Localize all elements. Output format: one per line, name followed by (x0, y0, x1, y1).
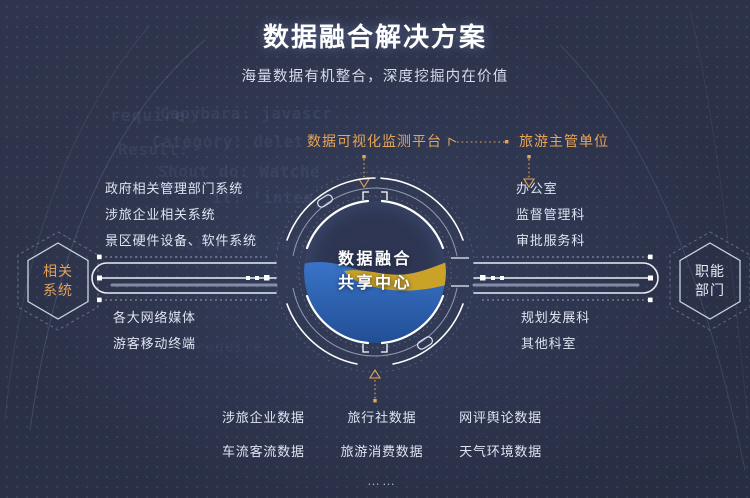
dropper-bottom-data (370, 370, 380, 402)
right-bus-connector (474, 255, 658, 303)
list-item[interactable]: 涉旅企业数据 (222, 405, 305, 431)
table-row: 涉旅企业数据 旅行社数据 网评舆论数据 (222, 405, 542, 431)
page-title: 数据融合解决方案 (0, 22, 750, 53)
list-item[interactable]: 旅游消费数据 (341, 439, 424, 465)
hexagon-related-systems[interactable]: 相关 系统 (12, 228, 104, 334)
list-item[interactable]: 天气环境数据 (459, 439, 542, 465)
hexagon-left-line2: 系统 (43, 281, 73, 300)
hexagon-left-label: 相关 系统 (12, 228, 104, 334)
list-item[interactable]: 其他科室 (521, 331, 590, 357)
hexagon-right-label: 职能 部门 (664, 228, 750, 334)
code-line: require (110, 106, 185, 126)
left-bus-connector (92, 255, 276, 303)
center-line2: 共享中心 (338, 272, 412, 296)
right-column-bottom: 规划发展科 其他科室 (521, 305, 590, 357)
list-item[interactable]: 各大网络媒体 (113, 305, 196, 331)
hexagon-right-line2: 部门 (695, 281, 725, 300)
center-hub: 数据融合 共享中心 (273, 170, 477, 374)
list-item[interactable]: 旅行社数据 (347, 405, 416, 431)
list-item[interactable]: 涉旅企业相关系统 (105, 202, 257, 228)
left-column-top: 政府相关管理部门系统 涉旅企业相关系统 景区硬件设备、软件系统 (105, 176, 257, 254)
list-item[interactable]: 车流客流数据 (222, 439, 305, 465)
list-item[interactable]: 审批服务科 (516, 228, 585, 254)
right-column-top: 办公室 监督管理科 审批服务科 (516, 176, 585, 254)
label-visualization-platform[interactable]: 数据可视化监测平台 (307, 131, 442, 151)
left-column-bottom: 各大网络媒体 游客移动终端 (113, 305, 196, 357)
list-item[interactable]: 规划发展科 (521, 305, 590, 331)
list-item[interactable]: 游客移动终端 (113, 331, 196, 357)
center-line1: 数据融合 (338, 248, 412, 272)
hexagon-functional-departments[interactable]: 职能 部门 (664, 228, 750, 334)
list-item[interactable]: 办公室 (516, 176, 585, 202)
list-item[interactable]: 监督管理科 (516, 202, 585, 228)
page-subtitle: 海量数据有机整合，深度挖掘内在价值 (0, 65, 750, 86)
center-label: 数据融合 共享中心 (304, 201, 446, 343)
list-item[interactable]: 网评舆论数据 (459, 405, 542, 431)
infographic-canvas: require Capybara: javascr Category: dele… (0, 0, 750, 498)
list-item[interactable]: 景区硬件设备、软件系统 (105, 228, 257, 254)
left-arrow-dotted-connector-icon (447, 135, 513, 149)
list-item[interactable]: 政府相关管理部门系统 (105, 176, 257, 202)
table-row: 车流客流数据 旅游消费数据 天气环境数据 (222, 439, 542, 465)
code-line: Capybara: javascr (160, 104, 332, 123)
code-line: require (196, 338, 263, 356)
bottom-data-grid: 涉旅企业数据 旅行社数据 网评舆论数据 车流客流数据 旅游消费数据 天气环境数据… (222, 405, 542, 488)
ellipsis-indicator: …… (222, 473, 542, 488)
hexagon-right-line1: 职能 (695, 262, 725, 281)
center-circle-fill: 数据融合 共享中心 (304, 201, 446, 343)
top-label-row: 数据可视化监测平台 旅游主管单位 (0, 131, 750, 153)
hexagon-left-line1: 相关 (43, 262, 73, 281)
label-tourism-authority[interactable]: 旅游主管单位 (519, 131, 609, 151)
header-block: 数据融合解决方案 海量数据有机整合，深度挖掘内在价值 (0, 22, 750, 86)
